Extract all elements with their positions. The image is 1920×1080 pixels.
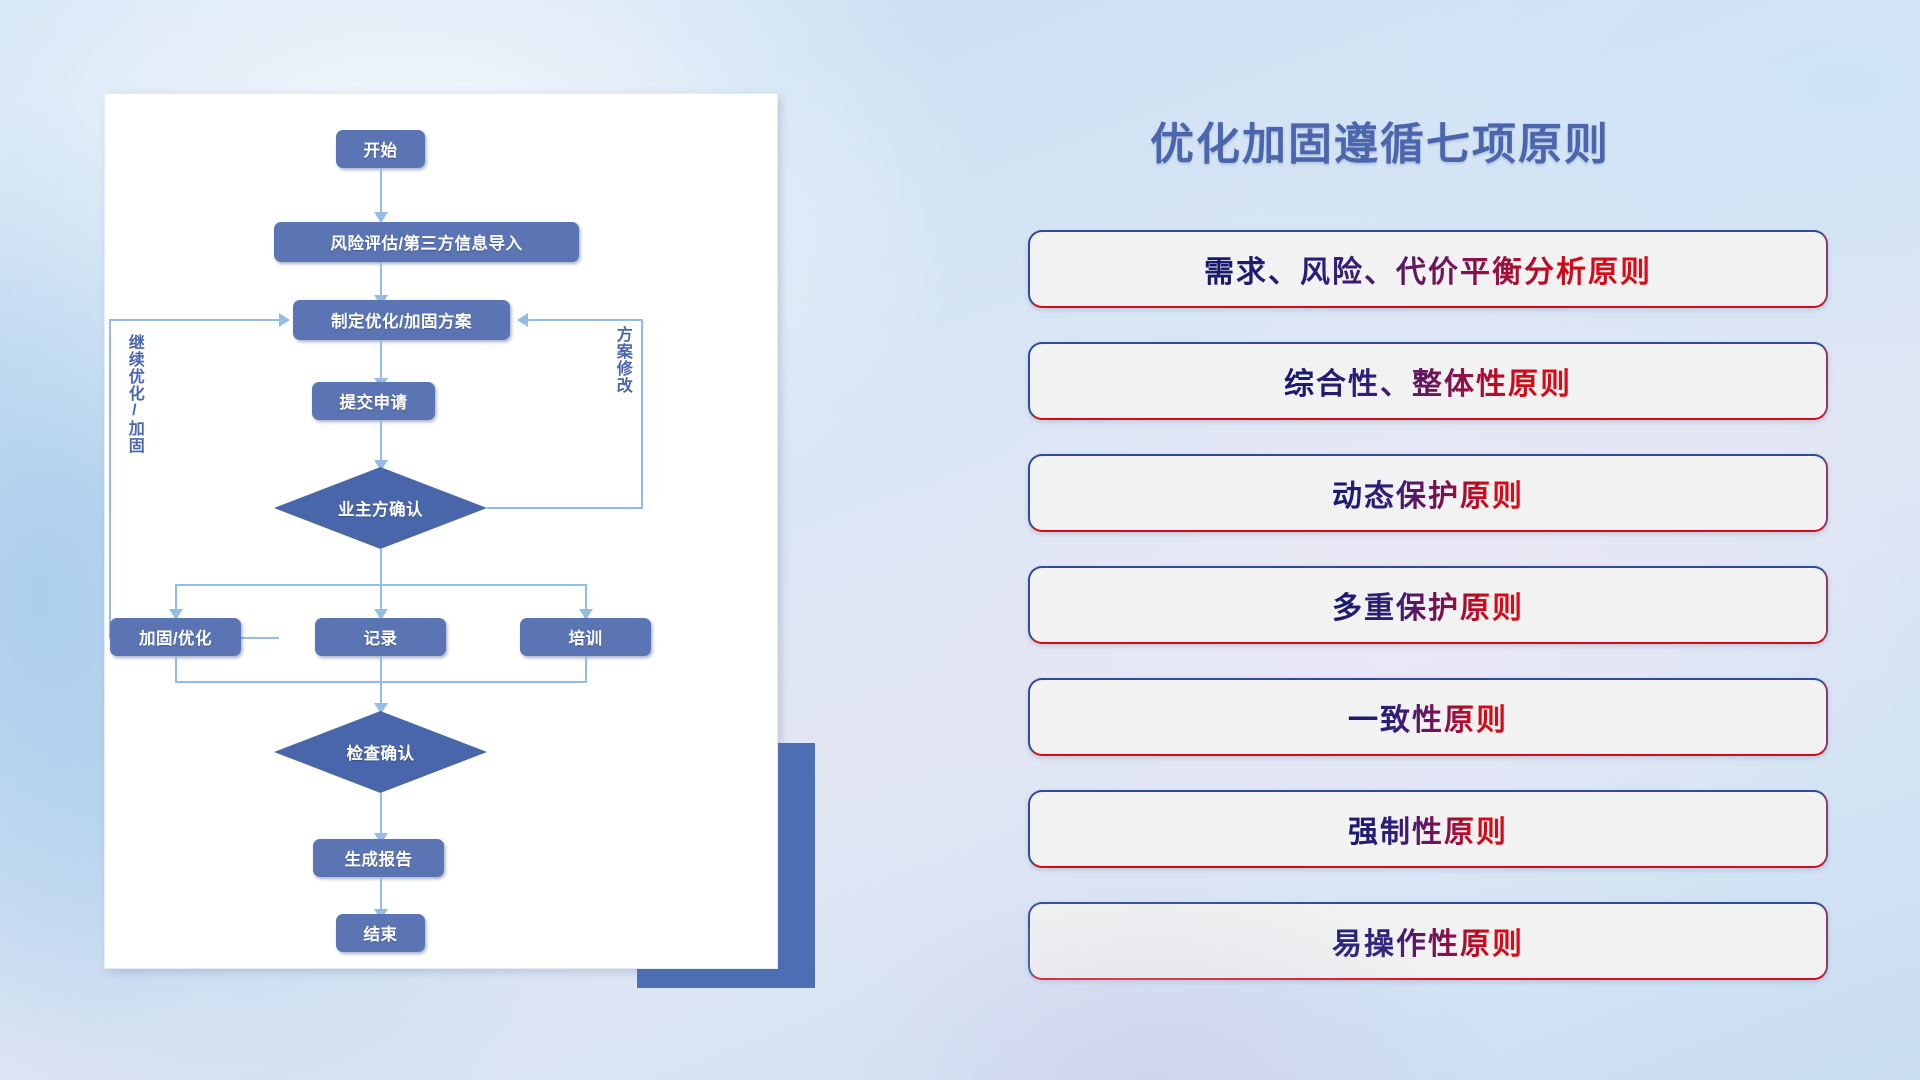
connector-loop-left-top <box>109 319 281 321</box>
connector-reinforce-down <box>175 656 177 683</box>
flow-node-report[interactable]: 生成报告 <box>313 839 444 877</box>
flow-node-reinforce-label: 加固/优化 <box>139 625 212 649</box>
connector-training-down <box>585 656 587 683</box>
flowchart-diagram: 开始 风险评估/第三方信息导入 制定优化/加固方案 <box>105 94 777 968</box>
flow-decision-owner-confirm[interactable]: 业主方确认 <box>274 467 487 549</box>
flow-node-reinforce[interactable]: 加固/优化 <box>110 618 241 656</box>
principle-item-6[interactable]: 强制性原则 <box>1028 790 1828 868</box>
connector-loop-right-vertical <box>641 319 643 509</box>
arrow-loop-left-into-plan <box>279 313 290 327</box>
arrow-loop-right-into-plan <box>517 313 528 327</box>
flow-decision-owner-confirm-label: 业主方确认 <box>274 467 487 549</box>
principle-item-2-label: 综合性、整体性原则 <box>1284 359 1572 403</box>
flow-node-submit-label: 提交申请 <box>340 389 408 413</box>
connector-plan-to-submit <box>380 340 382 383</box>
principles-list: 需求、风险、代价平衡分析原则 综合性、整体性原则 动态保护原则 多重保护原则 一… <box>1028 230 1828 1014</box>
principle-item-1[interactable]: 需求、风险、代价平衡分析原则 <box>1028 230 1828 308</box>
principle-item-5[interactable]: 一致性原则 <box>1028 678 1828 756</box>
principle-item-5-label: 一致性原则 <box>1348 695 1508 739</box>
flowchart-card: 开始 风险评估/第三方信息导入 制定优化/加固方案 <box>105 94 777 968</box>
flow-edge-label-right: 方案修改 <box>613 326 630 394</box>
flow-node-risk-assessment-label: 风险评估/第三方信息导入 <box>330 230 522 254</box>
flow-node-submit[interactable]: 提交申请 <box>312 382 435 420</box>
flow-node-training[interactable]: 培训 <box>520 618 651 656</box>
principle-item-3[interactable]: 动态保护原则 <box>1028 454 1828 532</box>
flow-node-record[interactable]: 记录 <box>315 618 446 656</box>
flow-node-plan[interactable]: 制定优化/加固方案 <box>293 300 510 340</box>
flow-node-start[interactable]: 开始 <box>336 130 425 168</box>
principle-item-7[interactable]: 易操作性原则 <box>1028 902 1828 980</box>
flow-node-report-label: 生成报告 <box>345 846 413 870</box>
principle-item-4[interactable]: 多重保护原则 <box>1028 566 1828 644</box>
connector-fanin-stem <box>380 656 382 708</box>
flow-node-start-label: 开始 <box>364 137 398 161</box>
principle-item-6-label: 强制性原则 <box>1348 807 1508 851</box>
flow-decision-inspect-confirm-label: 检查确认 <box>274 711 487 793</box>
principle-item-2[interactable]: 综合性、整体性原则 <box>1028 342 1828 420</box>
flowchart-panel: 开始 风险评估/第三方信息导入 制定优化/加固方案 <box>0 0 980 1080</box>
flow-node-end[interactable]: 结束 <box>336 914 425 952</box>
connector-loop-left-vertical <box>109 319 111 639</box>
connector-inspect-to-report <box>380 793 382 838</box>
connector-owner-fanout-stem <box>380 549 382 586</box>
connector-loop-right-top <box>528 319 643 321</box>
principles-panel: 优化加固遵循七项原则 需求、风险、代价平衡分析原则 综合性、整体性原则 动态保护… <box>1000 0 1920 1080</box>
principle-item-4-label: 多重保护原则 <box>1332 583 1524 627</box>
slide-canvas: 开始 风险评估/第三方信息导入 制定优化/加固方案 <box>0 0 1920 1080</box>
connector-start-to-risk <box>380 168 382 217</box>
flow-node-record-label: 记录 <box>364 625 398 649</box>
flow-node-end-label: 结束 <box>364 921 398 945</box>
flow-node-plan-label: 制定优化/加固方案 <box>331 308 472 332</box>
flow-edge-label-left: 继续优化/加固 <box>125 334 142 454</box>
flow-decision-inspect-confirm[interactable]: 检查确认 <box>274 711 487 793</box>
flow-node-training-label: 培训 <box>569 625 603 649</box>
flow-node-risk-assessment[interactable]: 风险评估/第三方信息导入 <box>274 222 579 262</box>
connector-submit-to-owner <box>380 420 382 465</box>
principle-item-3-label: 动态保护原则 <box>1332 471 1524 515</box>
principle-item-1-label: 需求、风险、代价平衡分析原则 <box>1204 247 1652 291</box>
page-title: 优化加固遵循七项原则 <box>1150 108 1610 172</box>
principle-item-7-label: 易操作性原则 <box>1332 919 1524 963</box>
connector-loop-right-from-decision <box>487 507 643 509</box>
